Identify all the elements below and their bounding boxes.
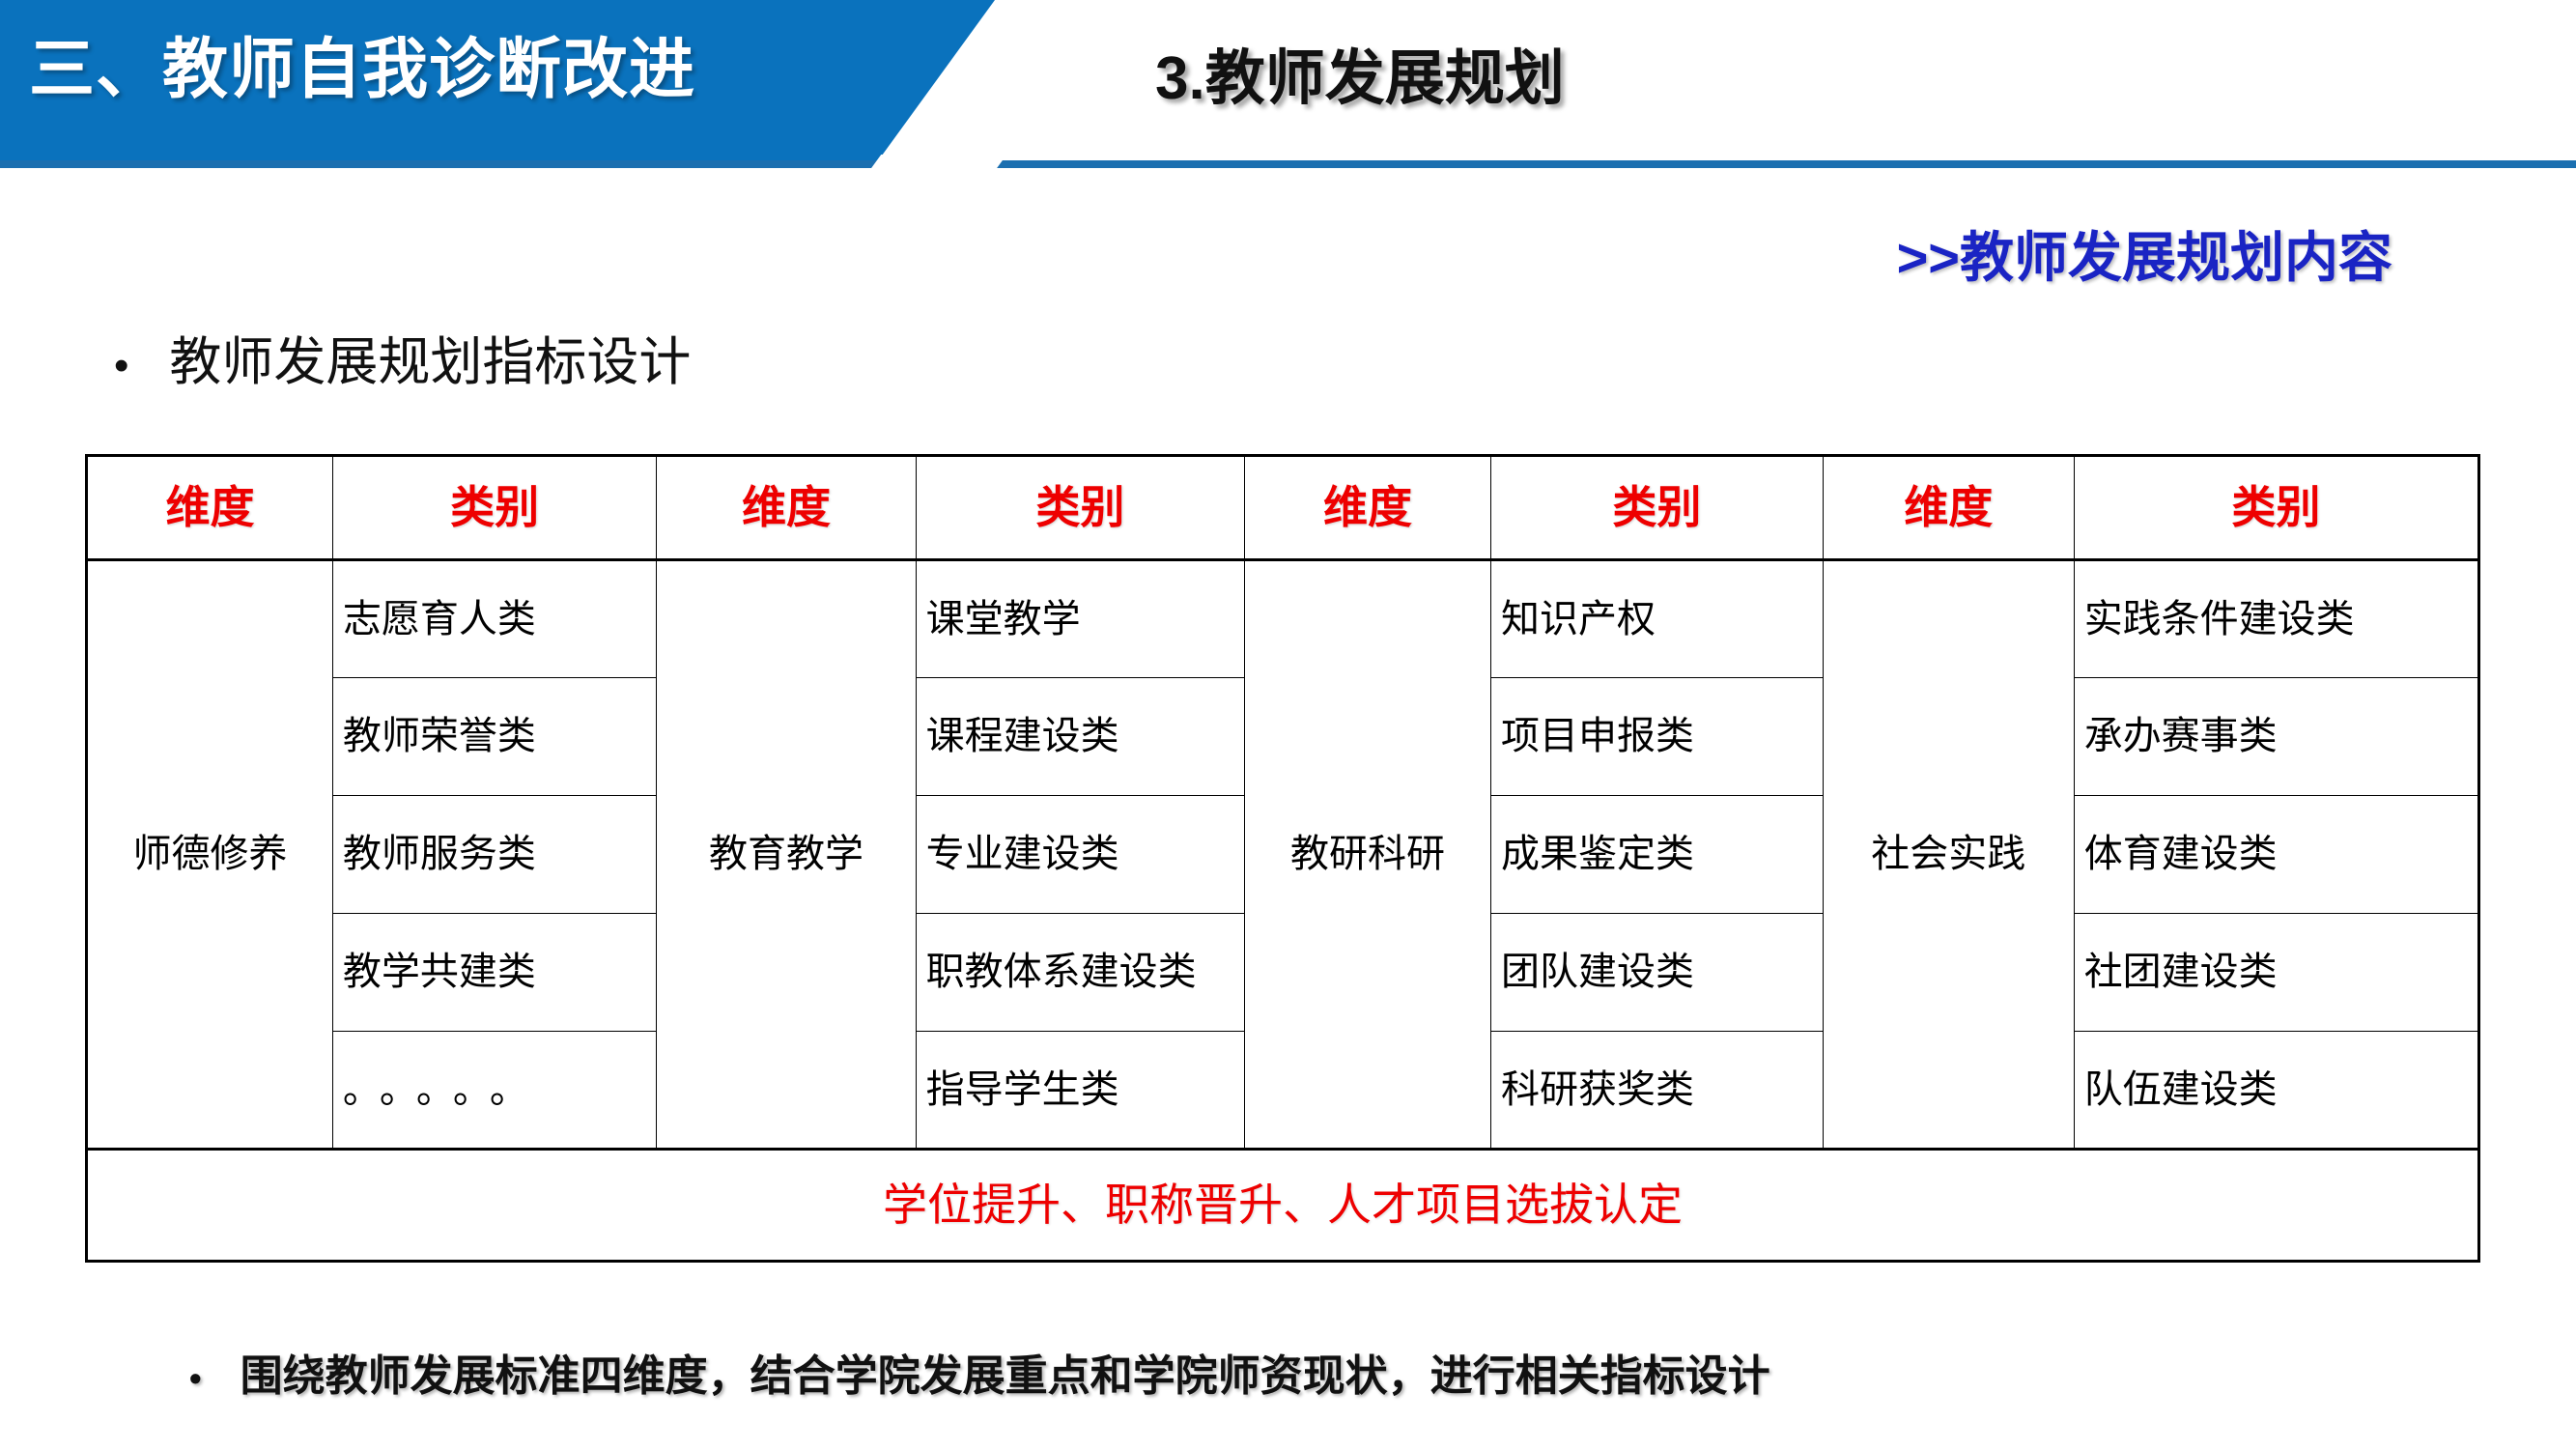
- slide-subtitle: 3.教师发展规划: [1155, 29, 1565, 116]
- category-cell: 教学共建类: [332, 914, 656, 1032]
- table-summary-text: 学位提升、职称晋升、人才项目选拔认定: [87, 1150, 2479, 1262]
- category-cell: 队伍建设类: [2074, 1032, 2478, 1150]
- category-cell: 社团建设类: [2074, 914, 2478, 1032]
- category-cell-ellipsis: 。。。。。: [332, 1032, 656, 1150]
- category-cell: 教师服务类: [332, 796, 656, 914]
- slide-header: 三、教师自我诊断改进 3.教师发展规划: [0, 0, 2576, 172]
- category-cell: 职教体系建设类: [916, 914, 1244, 1032]
- col-header-category-4: 类别: [2074, 456, 2478, 560]
- category-cell: 知识产权: [1490, 560, 1823, 678]
- bullet-heading: • 教师发展规划指标设计: [114, 319, 691, 395]
- section-tag-label: >>教师发展规划内容: [1897, 214, 2392, 293]
- dimension-cell-2: 教育教学: [657, 560, 916, 1150]
- dimension-cell-1: 师德修养: [87, 560, 333, 1150]
- dimension-cell-3: 教研科研: [1245, 560, 1491, 1150]
- bullet-dot-icon: •: [114, 345, 128, 387]
- category-cell: 团队建设类: [1490, 914, 1823, 1032]
- header-section-title: 三、教师自我诊断改进: [29, 10, 860, 116]
- category-cell: 指导学生类: [916, 1032, 1244, 1150]
- table-summary-row: 学位提升、职称晋升、人才项目选拔认定: [87, 1150, 2479, 1262]
- footer-note: • 围绕教师发展标准四维度，结合学院发展重点和学院师资现状，进行相关指标设计: [189, 1341, 1770, 1403]
- category-cell: 专业建设类: [916, 796, 1244, 914]
- col-header-dimension-3: 维度: [1245, 456, 1491, 560]
- category-cell: 体育建设类: [2074, 796, 2478, 914]
- category-cell: 成果鉴定类: [1490, 796, 1823, 914]
- col-header-category-3: 类别: [1490, 456, 1823, 560]
- category-cell: 课堂教学: [916, 560, 1244, 678]
- bullet-dot-icon: •: [189, 1361, 202, 1396]
- category-cell: 实践条件建设类: [2074, 560, 2478, 678]
- table-row: 师德修养 志愿育人类 教育教学 课堂教学 教研科研 知识产权 社会实践 实践条件…: [87, 560, 2479, 678]
- col-header-dimension-2: 维度: [657, 456, 916, 560]
- header-underline-notch: [867, 155, 1007, 174]
- col-header-category-1: 类别: [332, 456, 656, 560]
- dimension-cell-4: 社会实践: [1823, 560, 2074, 1150]
- footer-note-text: 围绕教师发展标准四维度，结合学院发展重点和学院师资现状，进行相关指标设计: [241, 1341, 1770, 1403]
- indicator-design-table: 维度 类别 维度 类别 维度 类别 维度 类别 师德修养 志愿育人类 教育教学 …: [85, 454, 2480, 1263]
- category-cell: 志愿育人类: [332, 560, 656, 678]
- header-underline: [0, 160, 2576, 168]
- category-cell: 项目申报类: [1490, 678, 1823, 796]
- table-header-row: 维度 类别 维度 类别 维度 类别 维度 类别: [87, 456, 2479, 560]
- category-cell: 课程建设类: [916, 678, 1244, 796]
- col-header-category-2: 类别: [916, 456, 1244, 560]
- category-cell: 教师荣誉类: [332, 678, 656, 796]
- bullet-heading-text: 教师发展规划指标设计: [169, 319, 691, 395]
- category-cell: 科研获奖类: [1490, 1032, 1823, 1150]
- col-header-dimension-4: 维度: [1823, 456, 2074, 560]
- category-cell: 承办赛事类: [2074, 678, 2478, 796]
- col-header-dimension-1: 维度: [87, 456, 333, 560]
